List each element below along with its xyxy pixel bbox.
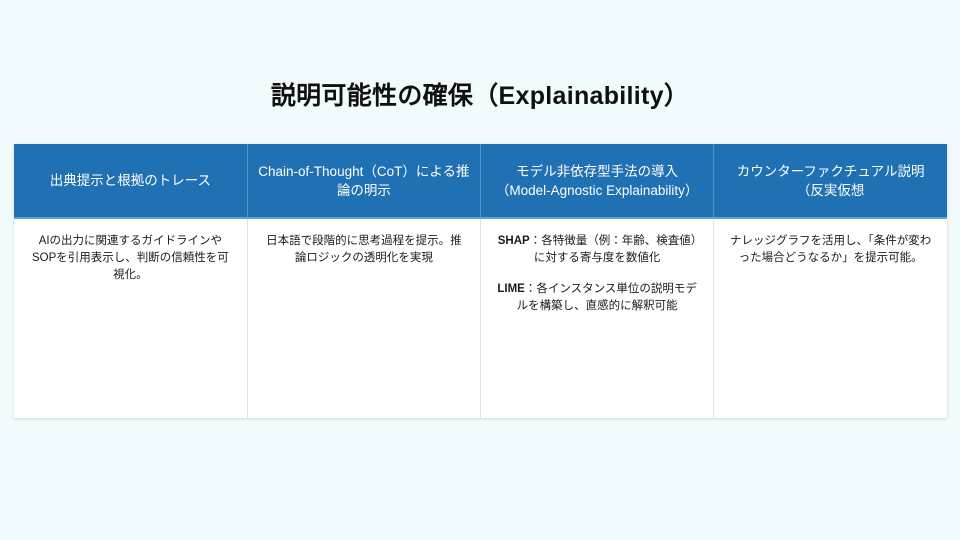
column-header-counterfactual: カウンターファクチュアル説明（反実仮想 bbox=[714, 144, 947, 218]
term-shap-description: ：各特徴量（例：年齢、検査値）に対する寄与度を数値化 bbox=[530, 235, 697, 264]
cell-paragraph-shap: SHAP：各特徴量（例：年齢、検査値）に対する寄与度を数値化 bbox=[495, 233, 699, 267]
cell-counterfactual: ナレッジグラフを活用し、「条件が変わった場合どうなるか」を提示可能。 bbox=[714, 218, 947, 418]
table-header: 出典提示と根拠のトレース Chain-of-Thought（CoT）による推論の… bbox=[14, 144, 947, 218]
term-shap: SHAP bbox=[498, 235, 530, 247]
cell-model-agnostic: SHAP：各特徴量（例：年齢、検査値）に対する寄与度を数値化 LIME：各インス… bbox=[481, 218, 714, 418]
term-lime-description: ：各インスタンス単位の説明モデルを構築し、直感的に解釈可能 bbox=[517, 283, 697, 312]
table-body: AIの出力に関連するガイドラインやSOPを引用表示し、判断の信頼性を可視化。 日… bbox=[14, 218, 947, 418]
explainability-table: 出典提示と根拠のトレース Chain-of-Thought（CoT）による推論の… bbox=[14, 144, 947, 418]
column-header-model-agnostic: モデル非依存型手法の導入（Model-Agnostic Explainabili… bbox=[481, 144, 714, 218]
column-header-source-tracing: 出典提示と根拠のトレース bbox=[14, 144, 247, 218]
table-header-row: 出典提示と根拠のトレース Chain-of-Thought（CoT）による推論の… bbox=[14, 144, 947, 218]
page-title: 説明可能性の確保（Explainability） bbox=[0, 80, 960, 112]
slide-canvas: 説明可能性の確保（Explainability） 出典提示と根拠のトレース Ch… bbox=[0, 0, 960, 540]
table-row: AIの出力に関連するガイドラインやSOPを引用表示し、判断の信頼性を可視化。 日… bbox=[14, 218, 947, 418]
cell-paragraph-lime: LIME：各インスタンス単位の説明モデルを構築し、直感的に解釈可能 bbox=[495, 281, 699, 315]
term-lime: LIME bbox=[497, 283, 524, 295]
cell-paragraph: AIの出力に関連するガイドラインやSOPを引用表示し、判断の信頼性を可視化。 bbox=[28, 233, 233, 284]
cell-paragraph: 日本語で段階的に思考過程を提示。推論ロジックの透明化を実現 bbox=[262, 233, 466, 267]
explainability-table-container: 出典提示と根拠のトレース Chain-of-Thought（CoT）による推論の… bbox=[14, 144, 947, 418]
cell-source-tracing: AIの出力に関連するガイドラインやSOPを引用表示し、判断の信頼性を可視化。 bbox=[14, 218, 247, 418]
column-header-chain-of-thought: Chain-of-Thought（CoT）による推論の明示 bbox=[247, 144, 480, 218]
cell-paragraph: ナレッジグラフを活用し、「条件が変わった場合どうなるか」を提示可能。 bbox=[728, 233, 933, 267]
cell-chain-of-thought: 日本語で段階的に思考過程を提示。推論ロジックの透明化を実現 bbox=[247, 218, 480, 418]
